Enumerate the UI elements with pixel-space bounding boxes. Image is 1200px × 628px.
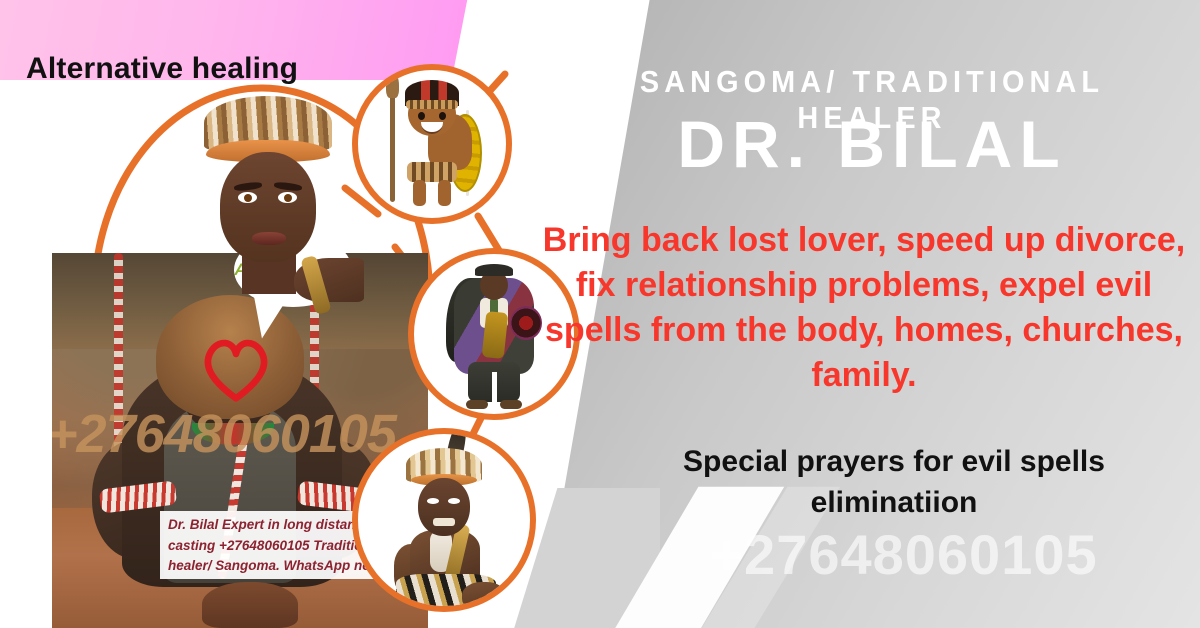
contact-phone: +27648060105 xyxy=(620,522,1188,587)
page-title: Alternative healing xyxy=(26,52,298,86)
warrior-eye-left xyxy=(418,112,425,120)
badge-kneeling-warrior[interactable] xyxy=(352,428,536,612)
photo-pot xyxy=(202,582,298,628)
portrait-pupil-right xyxy=(284,194,292,202)
robe-shoe-right xyxy=(500,400,522,409)
warrior-eye-right xyxy=(439,112,446,120)
badge-zulu-warrior[interactable] xyxy=(352,64,512,224)
kneeling-eye-right xyxy=(448,498,460,504)
warrior-headband xyxy=(406,100,458,109)
illustrated-healer-portrait xyxy=(176,96,362,296)
robe-hat xyxy=(475,264,513,276)
spear-head-icon xyxy=(386,72,399,98)
robe-shield-icon xyxy=(510,306,542,340)
kneeling-teeth xyxy=(433,518,455,526)
robe-leg-gap xyxy=(492,372,497,402)
warrior-leg-right xyxy=(438,180,451,206)
services-text: Bring back lost lover, speed up divorce,… xyxy=(540,218,1188,398)
portrait-mouth xyxy=(252,232,286,245)
kneeling-eye-left xyxy=(427,498,439,504)
robe-shoe-left xyxy=(466,400,488,409)
warrior-leg-left xyxy=(413,180,426,206)
warrior-skirt xyxy=(407,162,457,182)
heart-outline-icon xyxy=(199,333,273,403)
photo-gourd xyxy=(70,566,140,622)
kneeling-knee xyxy=(462,582,506,612)
kneeling-face xyxy=(418,478,470,536)
poster-canvas: Alternative healing Ask the xyxy=(0,0,1200,628)
prayers-text: Special prayers for evil spells eliminat… xyxy=(600,442,1188,523)
portrait-pupil-left xyxy=(244,194,252,202)
portrait-face xyxy=(220,152,316,262)
healer-name: DR. BILAL xyxy=(560,106,1184,182)
photo-watermark-phone: +27648060105 xyxy=(52,403,428,465)
